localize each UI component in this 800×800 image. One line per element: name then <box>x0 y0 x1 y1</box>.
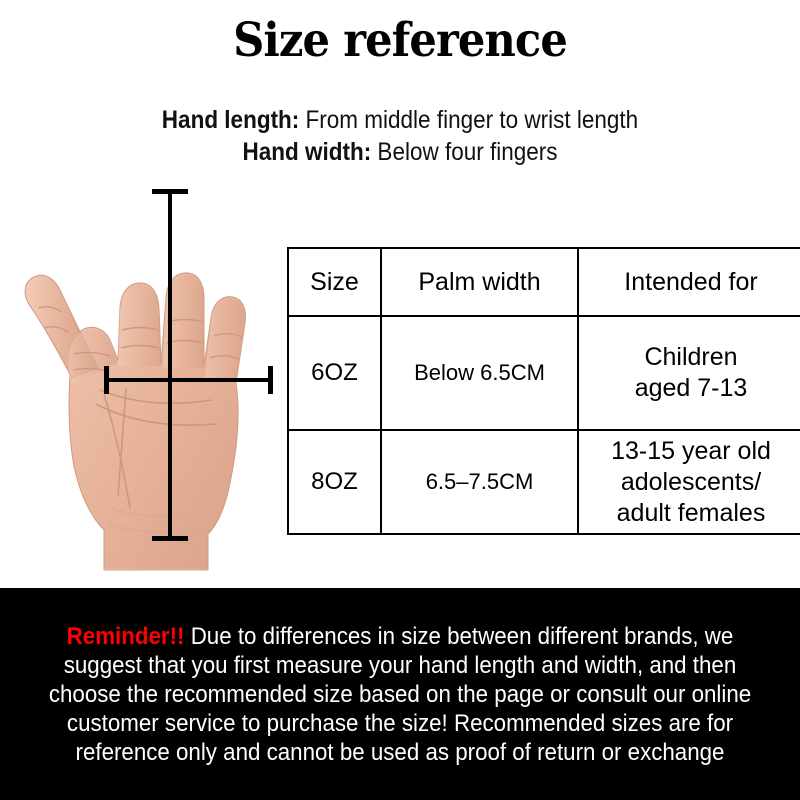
cell-size-6oz: 6OZ <box>288 316 381 430</box>
table-header-palm-width: Palm width <box>381 248 578 316</box>
table-header-row: Size Palm width Intended for <box>288 248 800 316</box>
cell-palm-width-8oz: 6.5–7.5CM <box>381 430 578 534</box>
cell-palm-width-6oz: Below 6.5CM <box>381 316 578 430</box>
page-title: Size reference <box>32 12 768 70</box>
subtitle-block: Hand length: From middle finger to wrist… <box>0 104 800 168</box>
cell-intended-for-6oz: Childrenaged 7-13 <box>578 316 800 430</box>
hand-length-bottom-cap <box>152 536 188 541</box>
size-table: Size Palm width Intended for 6OZ Below 6… <box>287 247 800 535</box>
size-reference-infographic: Size reference Hand length: From middle … <box>0 0 800 800</box>
table-header-intended-for: Intended for <box>578 248 800 316</box>
reminder-banner: Reminder!! Due to differences in size be… <box>0 588 800 800</box>
hand-width-measure-line <box>105 378 273 382</box>
subtitle-hand-width: Hand width: Below four fingers <box>40 136 760 168</box>
table-header-size: Size <box>288 248 381 316</box>
hand-width-left-cap <box>104 366 109 394</box>
reminder-text-block: Reminder!! Due to differences in size be… <box>47 622 754 767</box>
hand-length-measure-line <box>168 191 172 541</box>
subtitle-hand-width-label: Hand width: <box>242 138 371 166</box>
cell-size-8oz: 8OZ <box>288 430 381 534</box>
hand-diagram <box>0 178 300 590</box>
subtitle-hand-length-label: Hand length: <box>162 106 299 134</box>
cell-intended-for-8oz: 13-15 year oldadolescents/adult females <box>578 430 800 534</box>
subtitle-hand-width-text: Below four fingers <box>371 138 557 166</box>
subtitle-hand-length: Hand length: From middle finger to wrist… <box>40 104 760 136</box>
table-row: 6OZ Below 6.5CM Childrenaged 7-13 <box>288 316 800 430</box>
hand-width-right-cap <box>268 366 273 394</box>
table-row: 8OZ 6.5–7.5CM 13-15 year oldadolescents/… <box>288 430 800 534</box>
hand-illustration-svg <box>0 178 300 590</box>
subtitle-hand-length-text: From middle finger to wrist length <box>299 106 638 134</box>
reminder-lead-label: Reminder!! <box>67 623 185 650</box>
hand-length-top-cap <box>152 189 188 194</box>
